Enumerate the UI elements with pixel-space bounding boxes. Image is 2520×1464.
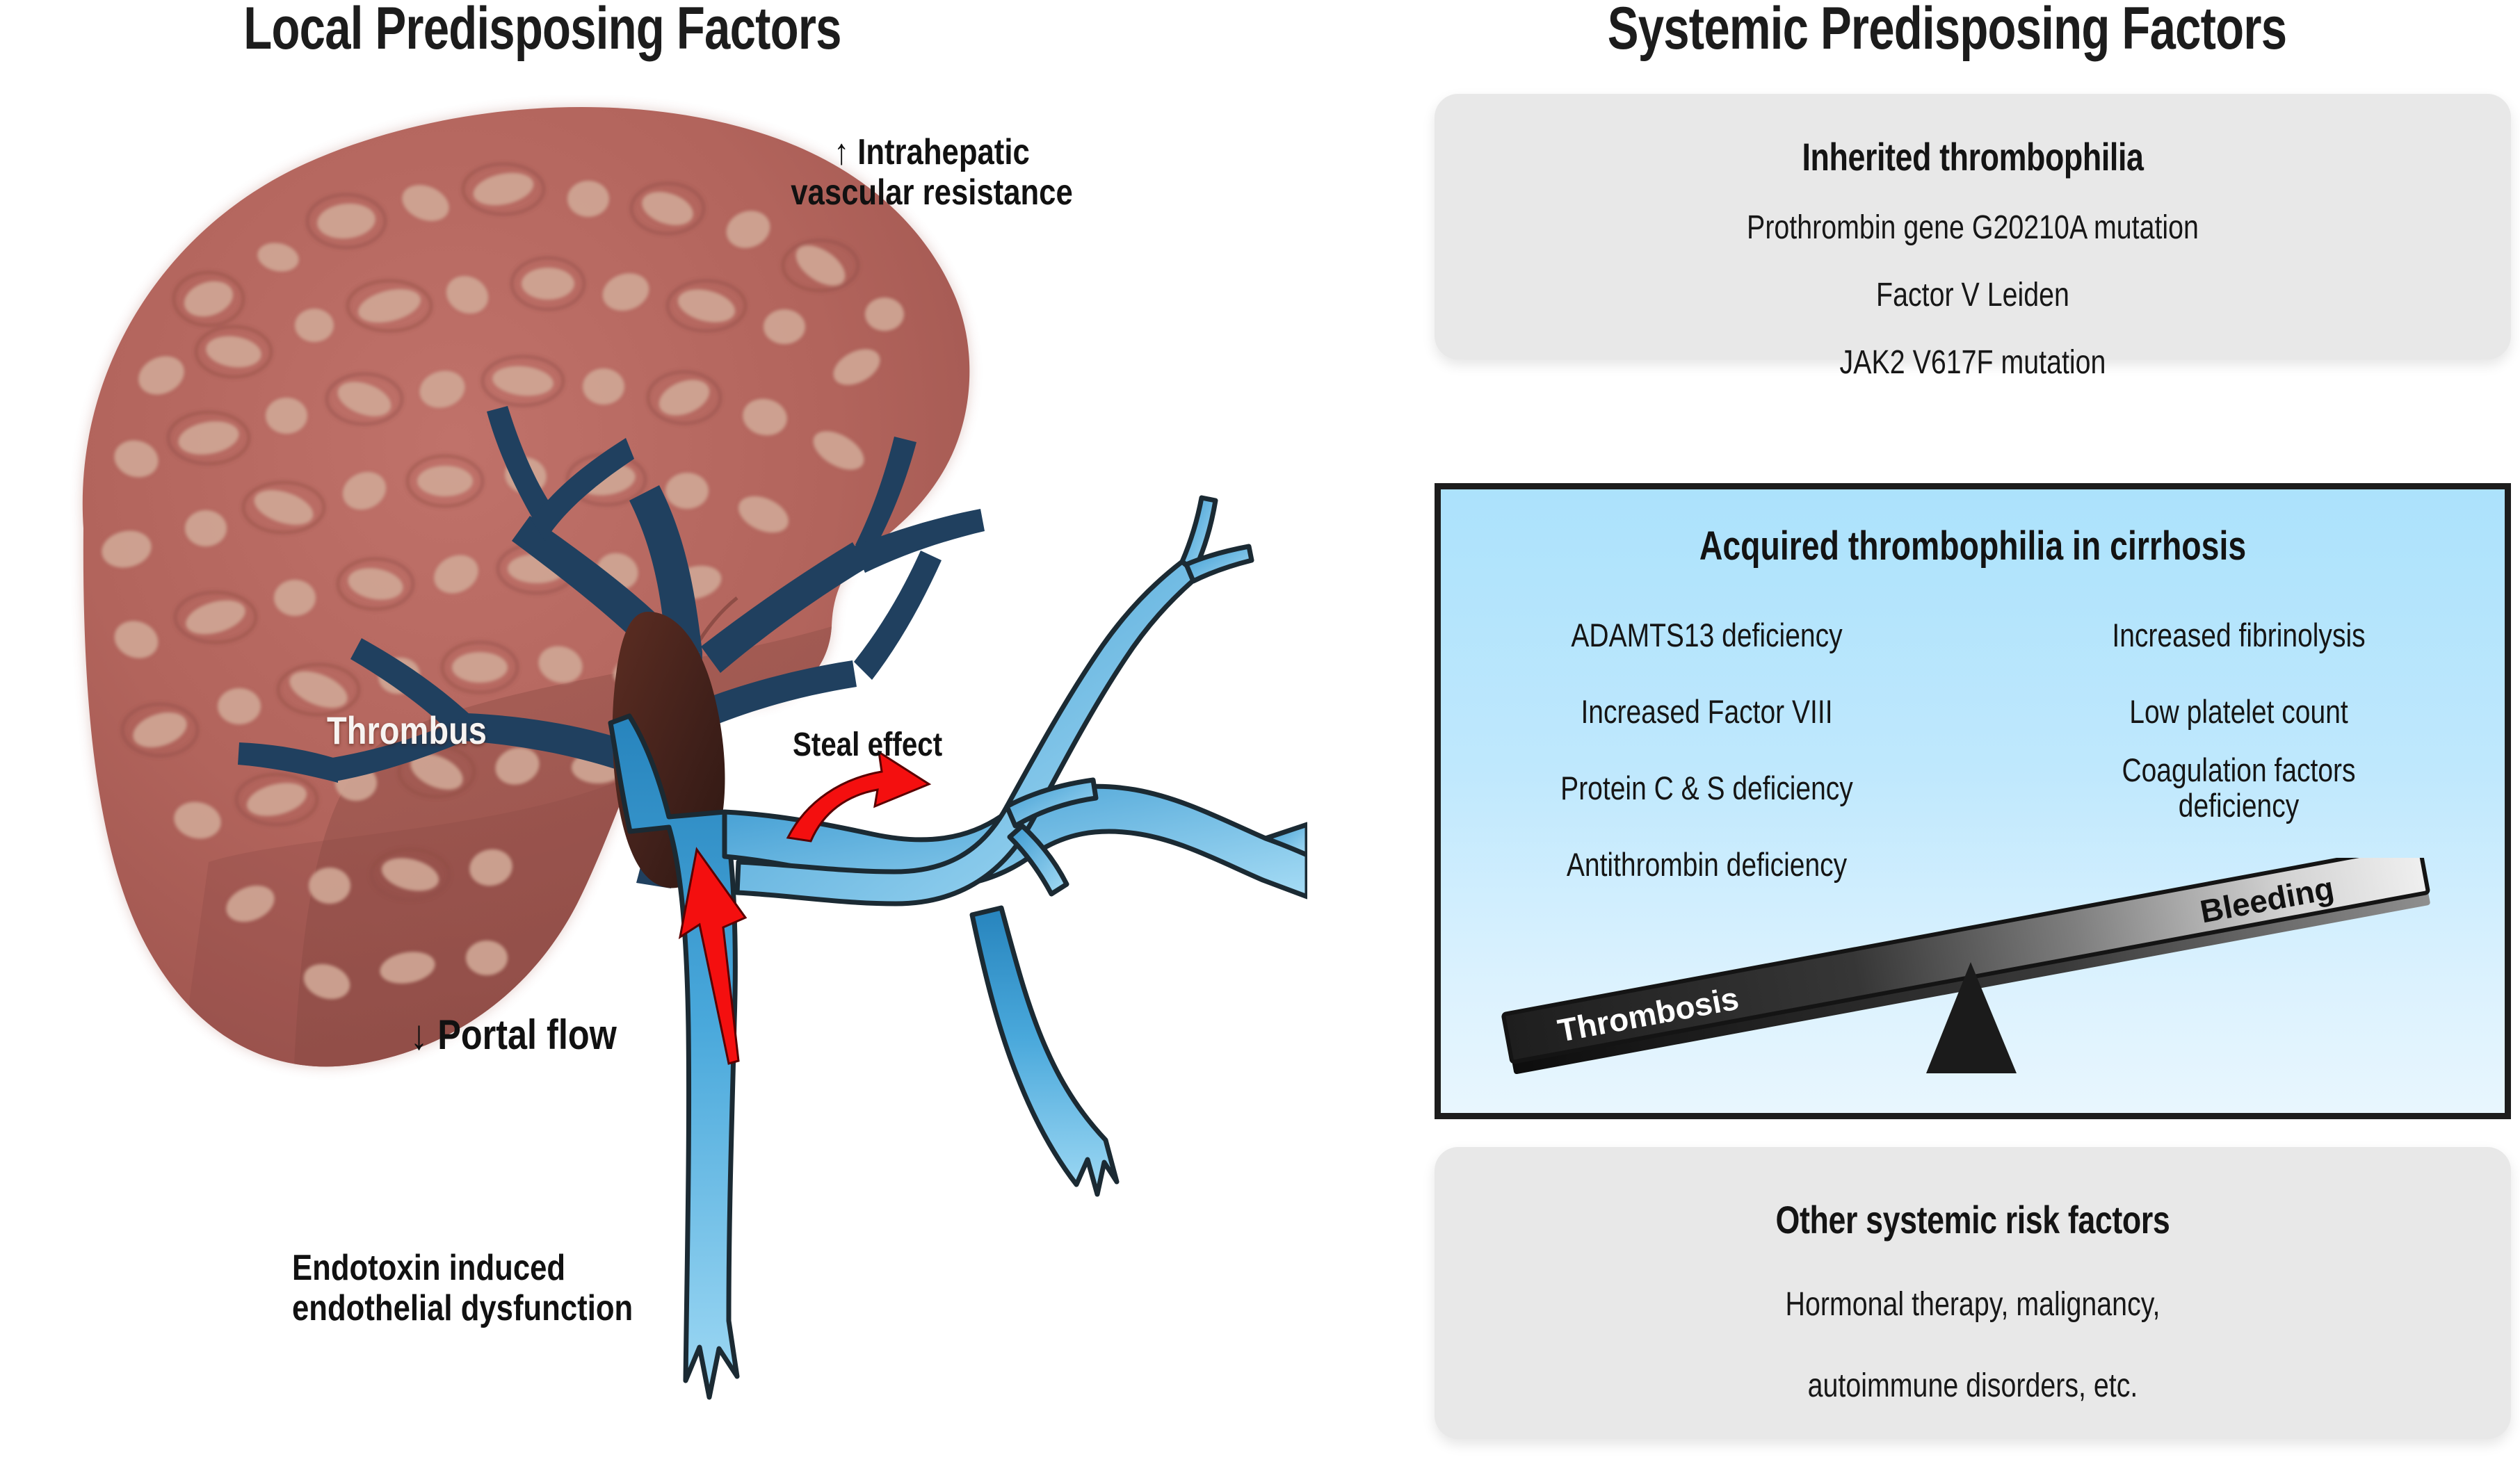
card-acquired-thrombophilia: Acquired thrombophilia in cirrhosis ADAM… <box>1435 483 2511 1119</box>
cirrhotic-liver-illustration: ↑ Intrahepatic vascular resistance Throm… <box>0 0 1307 1464</box>
label-endotoxin-endothelial-dysfunction: Endotoxin induced endothelial dysfunctio… <box>292 1248 633 1328</box>
acquired-item-left: Protein C & S deficiency <box>1486 754 1928 823</box>
other-item: autoimmune disorders, etc. <box>1531 1367 2414 1405</box>
acquired-item-right: Increased fibrinolysis <box>2018 601 2460 670</box>
label-intrahepatic-vascular-resistance: ↑ Intrahepatic vascular resistance <box>751 132 1113 213</box>
other-item: Hormonal therapy, malignancy, <box>1531 1285 2414 1324</box>
card-acquired-title: Acquired thrombophilia in cirrhosis <box>1547 523 2398 569</box>
label-portal-flow: ↓ Portal flow <box>410 1011 617 1058</box>
acquired-items-grid: ADAMTS13 deficiency Increased fibrinolys… <box>1441 601 2505 900</box>
inherited-item: Prothrombin gene G20210A mutation <box>1531 209 2414 247</box>
label-steal-effect: Steal effect <box>793 726 942 764</box>
card-other-title: Other systemic risk factors <box>1542 1197 2403 1242</box>
acquired-item-left: ADAMTS13 deficiency <box>1486 601 1928 670</box>
thrombosis-bleeding-balance: Thrombosis Bleeding <box>1476 858 2463 1087</box>
card-inherited-title: Inherited thrombophilia <box>1542 134 2403 179</box>
liver-body <box>83 107 980 1112</box>
label-thrombus: Thrombus <box>327 709 487 753</box>
inherited-item: Factor V Leiden <box>1531 276 2414 314</box>
acquired-item-right: Low platelet count <box>2018 677 2460 747</box>
acquired-item-right: Coagulation factors deficiency <box>2018 754 2460 823</box>
card-other-systemic-risk-factors: Other systemic risk factors Hormonal the… <box>1435 1147 2511 1439</box>
acquired-item-left: Increased Factor VIII <box>1486 677 1928 747</box>
steal-effect-arrow <box>788 752 929 841</box>
systemic-factors-column: Inherited thrombophilia Prothrombin gene… <box>1435 0 2511 1464</box>
inherited-item: JAK2 V617F mutation <box>1531 343 2414 382</box>
card-inherited-thrombophilia: Inherited thrombophilia Prothrombin gene… <box>1435 94 2511 359</box>
